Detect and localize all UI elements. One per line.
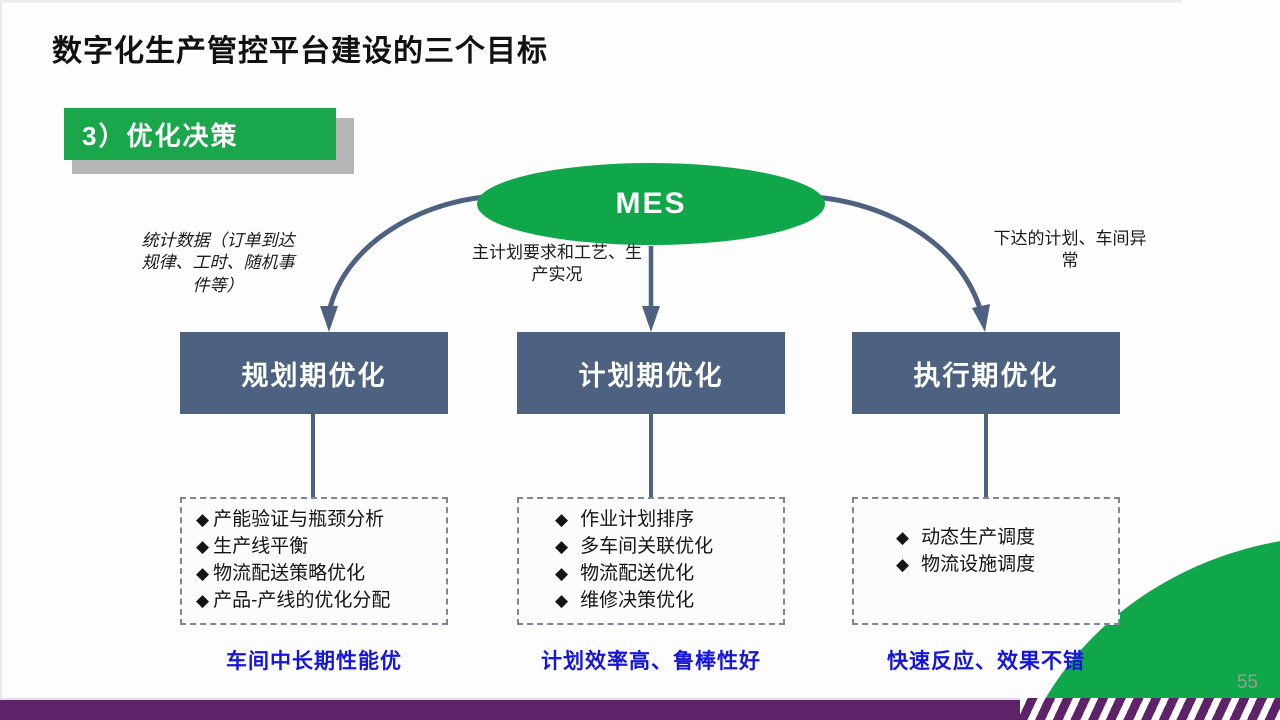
diamond-bullet-icon: ◆ bbox=[196, 589, 209, 613]
list-item-label: 物流配送优化 bbox=[580, 561, 694, 588]
diamond-bullet-icon: ◆ bbox=[896, 526, 909, 550]
mes-hub-node: MES bbox=[477, 163, 825, 245]
list-item: ◆ 作业计划排序 bbox=[519, 507, 783, 534]
caption-planning: 车间中长期性能优 bbox=[180, 645, 448, 675]
stage-box-execution: 执行期优化 bbox=[852, 332, 1120, 414]
arrow-label-right: 下达的计划、车间异常 bbox=[990, 228, 1150, 273]
detail-list-scheduling: ◆ 作业计划排序 ◆ 多车间关联优化 ◆ 物流配送优化 ◆ 维修决策优化 bbox=[517, 497, 785, 625]
band-stripe-pattern bbox=[1020, 698, 1280, 720]
list-item: ◆ 物流配送优化 bbox=[519, 561, 783, 588]
list-item-label: 动态生产调度 bbox=[921, 525, 1035, 552]
page-title: 数字化生产管控平台建设的三个目标 bbox=[52, 26, 548, 70]
list-item-label: 多车间关联优化 bbox=[580, 534, 713, 561]
list-item: ◆ 生产线平衡 bbox=[182, 534, 446, 561]
diamond-bullet-icon: ◆ bbox=[196, 508, 209, 532]
list-item: ◆ 多车间关联优化 bbox=[519, 534, 783, 561]
arrow-label-left: 统计数据（订单到达规律、工时、随机事件等） bbox=[138, 230, 298, 297]
banner-label: 3）优化决策 bbox=[64, 116, 238, 153]
left-divider bbox=[0, 0, 2, 700]
stage-box-scheduling: 计划期优化 bbox=[517, 332, 785, 414]
list-item: ◆ 维修决策优化 bbox=[519, 588, 783, 615]
list-item: ◆ 物流设施调度 bbox=[854, 552, 1118, 579]
page-number: 55 bbox=[1237, 672, 1258, 694]
bottom-purple-band bbox=[0, 698, 1280, 720]
list-item-label: 产品-产线的优化分配 bbox=[213, 588, 390, 615]
diamond-bullet-icon: ◆ bbox=[555, 589, 568, 613]
diamond-bullet-icon: ◆ bbox=[196, 562, 209, 586]
stage-box-label: 规划期优化 bbox=[242, 354, 387, 393]
caption-scheduling: 计划效率高、鲁棒性好 bbox=[517, 645, 785, 675]
section-banner: 3）优化决策 bbox=[64, 108, 354, 174]
caption-execution: 快速反应、效果不错 bbox=[852, 645, 1120, 675]
list-item-label: 物流配送策略优化 bbox=[213, 561, 365, 588]
top-divider bbox=[0, 0, 1182, 3]
banner-plate: 3）优化决策 bbox=[64, 108, 336, 160]
list-item: ◆ 动态生产调度 bbox=[854, 525, 1118, 552]
detail-list-execution: ◆ 动态生产调度 ◆ 物流设施调度 bbox=[852, 497, 1120, 625]
arrow-label-middle: 主计划要求和工艺、生产实况 bbox=[472, 242, 642, 287]
list-item: ◆ 产能验证与瓶颈分析 bbox=[182, 507, 446, 534]
slide-canvas: 数字化生产管控平台建设的三个目标 3）优化决策 MES 统计数据（订单到达规律、… bbox=[0, 0, 1280, 720]
list-item-label: 物流设施调度 bbox=[921, 552, 1035, 579]
diamond-bullet-icon: ◆ bbox=[196, 535, 209, 559]
list-item-label: 作业计划排序 bbox=[580, 507, 694, 534]
detail-list-planning: ◆ 产能验证与瓶颈分析 ◆ 生产线平衡 ◆ 物流配送策略优化 ◆ 产品-产线的优… bbox=[180, 497, 448, 625]
list-item-label: 生产线平衡 bbox=[213, 534, 308, 561]
list-item-label: 产能验证与瓶颈分析 bbox=[213, 507, 384, 534]
mes-hub-label: MES bbox=[615, 187, 686, 221]
diamond-bullet-icon: ◆ bbox=[555, 535, 568, 559]
stage-box-label: 执行期优化 bbox=[914, 354, 1059, 393]
stage-box-label: 计划期优化 bbox=[579, 354, 724, 393]
list-item: ◆ 物流配送策略优化 bbox=[182, 561, 446, 588]
list-item: ◆ 产品-产线的优化分配 bbox=[182, 588, 446, 615]
diamond-bullet-icon: ◆ bbox=[896, 553, 909, 577]
stage-box-planning: 规划期优化 bbox=[180, 332, 448, 414]
diamond-bullet-icon: ◆ bbox=[555, 562, 568, 586]
diamond-bullet-icon: ◆ bbox=[555, 508, 568, 532]
list-item-label: 维修决策优化 bbox=[580, 588, 694, 615]
